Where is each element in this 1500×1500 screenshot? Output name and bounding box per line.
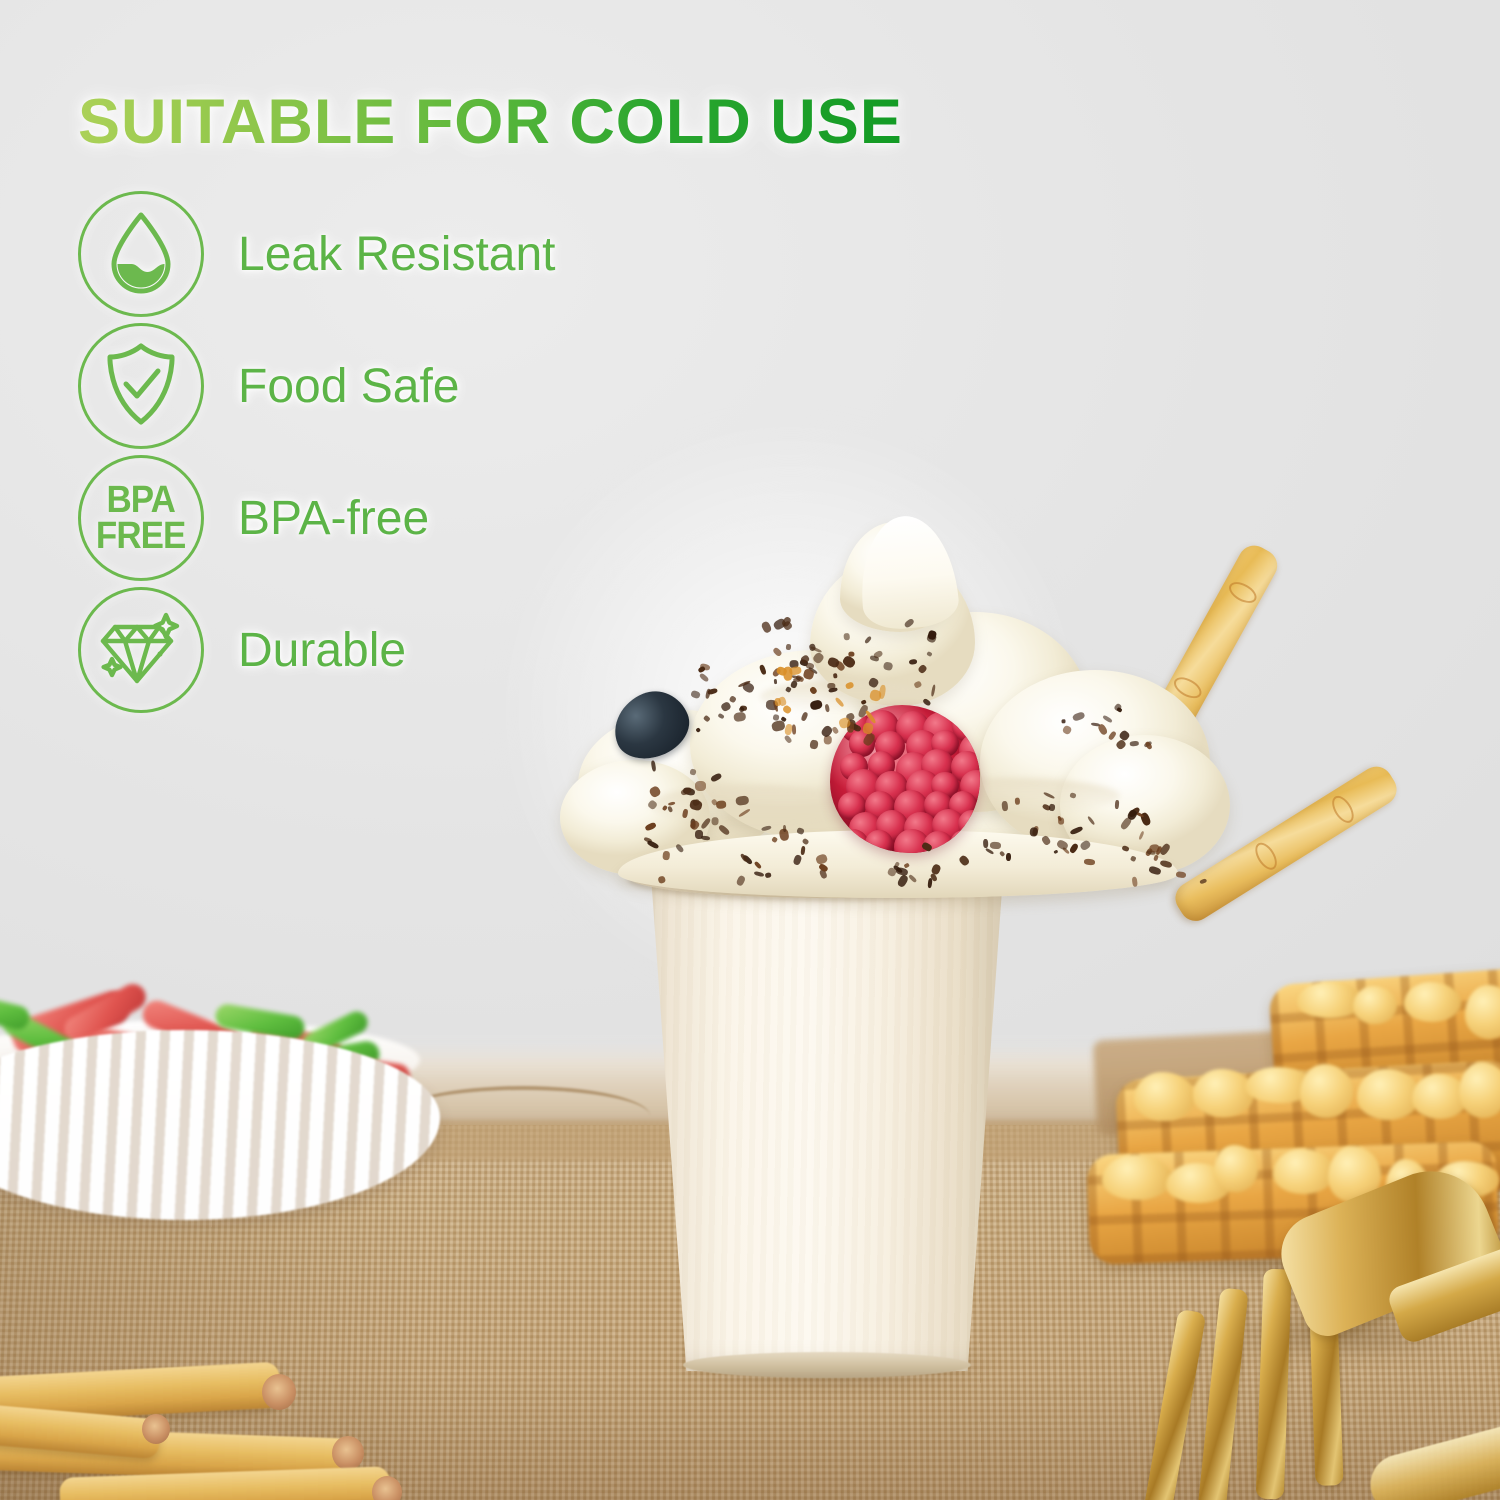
raspberry-drupelet — [865, 830, 893, 853]
page-title: SUITABLE FOR COLD USE — [78, 86, 903, 158]
feature-icon-ring: BPA FREE — [78, 455, 204, 581]
paper-cup-base — [683, 1352, 971, 1378]
chocolate-shaving — [792, 725, 796, 735]
feature-item-bpa-free: BPA FREE BPA-free — [78, 452, 698, 584]
chocolate-shaving — [1029, 827, 1038, 837]
feature-item-food-safe: Food Safe — [78, 320, 698, 452]
feature-label: Leak Resistant — [238, 227, 556, 282]
wafer-roll-end — [372, 1476, 402, 1500]
waffle-nub — [1300, 1064, 1353, 1118]
waffle-nub — [1357, 1069, 1419, 1119]
chocolate-shaving — [715, 800, 726, 809]
feature-icon-ring — [78, 191, 204, 317]
bpa-badge-line1: BPA — [96, 482, 186, 518]
paper-cup-texture — [637, 866, 1017, 1371]
chocolate-shaving — [1062, 719, 1066, 723]
waffle-nub — [1214, 1145, 1258, 1192]
fork-tine — [1142, 1309, 1206, 1500]
feature-label: Durable — [238, 623, 406, 678]
chocolate-shaving — [1083, 858, 1095, 865]
wafer-roll-end — [142, 1414, 170, 1444]
diamond-sparkle-icon — [98, 607, 184, 694]
waffle-nub — [1459, 1062, 1500, 1118]
chocolate-shaving — [764, 872, 771, 878]
feature-label: BPA-free — [238, 491, 429, 546]
raspberry-drupelet — [836, 829, 869, 853]
chocolate-shaving — [663, 851, 671, 860]
waffle-nub — [1193, 1069, 1255, 1117]
raspberry-drupelet — [950, 830, 978, 853]
feature-item-leak-resistant: Leak Resistant — [78, 188, 698, 320]
chocolate-shaving — [1048, 803, 1055, 811]
fork-tine — [1256, 1269, 1292, 1500]
feature-list: Leak Resistant Food Safe BPA FREE — [78, 188, 698, 716]
waffle-nub — [1102, 1155, 1172, 1200]
fork-tine — [1198, 1288, 1249, 1500]
chocolate-shaving — [786, 644, 791, 650]
gold-fork — [1130, 1186, 1500, 1500]
shield-check-icon — [101, 341, 181, 432]
feature-label: Food Safe — [238, 359, 459, 414]
chocolate-shaving — [695, 830, 703, 839]
chocolate-shaving — [1069, 792, 1076, 798]
feature-item-durable: Durable — [78, 584, 698, 716]
bpa-badge-line2: FREE — [96, 518, 186, 554]
chocolate-shaving — [983, 839, 989, 848]
waffle-nub — [1404, 982, 1462, 1022]
waffle-nub — [1353, 986, 1396, 1023]
feature-icon-ring — [78, 323, 204, 449]
chocolate-shaving — [843, 633, 849, 641]
waffle-nub — [1465, 985, 1500, 1039]
chocolate-shaving — [1015, 797, 1020, 804]
fork-second-blade — [1364, 1378, 1500, 1500]
chocolate-shaving — [832, 673, 837, 679]
waffle-nub — [1273, 1149, 1335, 1195]
chocolate-shaving — [1149, 843, 1160, 852]
feature-icon-ring — [78, 587, 204, 713]
water-drop-icon — [102, 209, 180, 300]
waffle-nub — [1134, 1072, 1195, 1121]
product-marketing-image: SUITABLE FOR COLD USE Leak Resistant — [0, 0, 1500, 1500]
bpa-free-icon: BPA FREE — [96, 482, 186, 555]
wafer-roll-end — [332, 1436, 364, 1470]
chocolate-shaving — [695, 781, 706, 791]
wafer-roll-end — [262, 1374, 296, 1410]
